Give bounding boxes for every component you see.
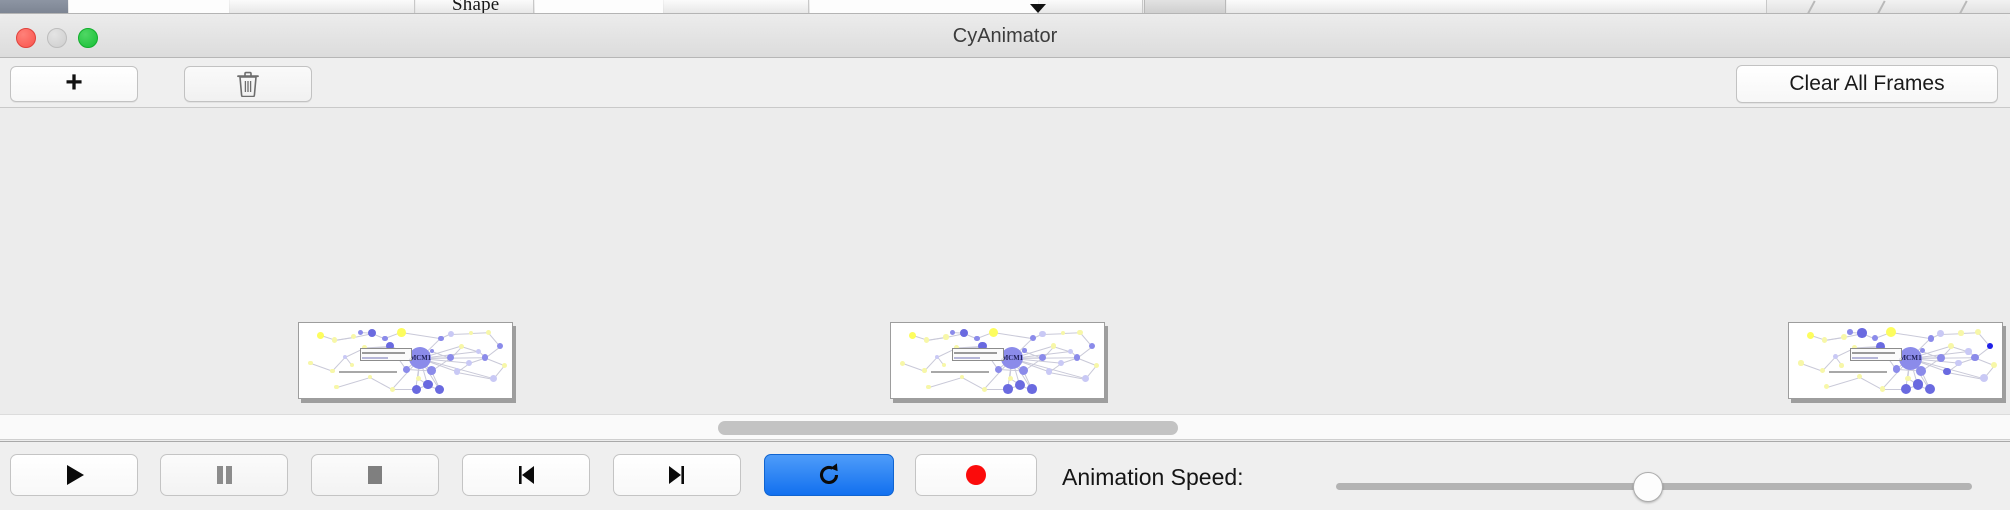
background-tab xyxy=(1144,0,1226,13)
network-node xyxy=(358,330,363,335)
network-node xyxy=(332,337,337,342)
frame-tooltip-callout xyxy=(1850,348,1902,361)
window-title: CyAnimator xyxy=(0,25,2010,48)
record-button[interactable] xyxy=(915,454,1037,496)
frame-tooltip-text-line xyxy=(362,357,388,359)
background-panel-h xyxy=(1227,0,1767,14)
network-node xyxy=(922,368,927,373)
network-node xyxy=(1937,330,1944,337)
network-node xyxy=(1003,384,1013,394)
frame-tooltip-text-line xyxy=(954,352,997,354)
network-node xyxy=(382,336,387,341)
background-window-strip: Shape xyxy=(0,0,2010,14)
network-node xyxy=(390,387,395,392)
network-node xyxy=(448,331,454,337)
frame-tooltip-text-line xyxy=(1852,357,1878,359)
timeline-frame-thumbnail[interactable]: MCM1 xyxy=(298,322,513,399)
network-node xyxy=(1039,331,1045,337)
timeline-scrollbar[interactable] xyxy=(0,414,2010,440)
pause-button[interactable] xyxy=(160,454,288,496)
frame-network-preview: MCM1 xyxy=(299,323,512,398)
network-node xyxy=(1958,330,1963,335)
play-icon xyxy=(61,462,87,488)
network-node xyxy=(995,366,1002,373)
network-node xyxy=(1046,368,1053,375)
network-node xyxy=(1051,343,1056,348)
background-panel-a xyxy=(69,0,229,13)
record-icon xyxy=(963,462,989,488)
loop-button[interactable] xyxy=(764,454,894,496)
network-node xyxy=(454,368,460,374)
network-node xyxy=(412,385,421,394)
network-node xyxy=(1948,343,1954,349)
network-node xyxy=(1987,343,1994,350)
network-node xyxy=(490,375,497,382)
network-node xyxy=(1971,354,1978,361)
frame-annotation-line xyxy=(931,371,989,373)
network-node xyxy=(1094,363,1099,368)
network-node xyxy=(982,387,987,392)
network-node xyxy=(1913,379,1924,390)
network-edge xyxy=(401,332,441,339)
network-node xyxy=(1925,384,1935,394)
background-cursor-arrow-icon xyxy=(1030,4,1046,13)
frame-tooltip-callout xyxy=(360,348,412,361)
network-node xyxy=(943,334,948,339)
network-node xyxy=(466,360,472,366)
network-node xyxy=(1022,348,1027,353)
network-node xyxy=(1886,327,1896,337)
network-node xyxy=(1980,374,1988,382)
frame-tooltip-text-line xyxy=(954,357,980,359)
network-node xyxy=(330,369,334,373)
network-node xyxy=(1893,365,1901,373)
background-window-titlebar xyxy=(0,0,68,13)
network-node xyxy=(1089,343,1095,349)
background-panel-b xyxy=(230,0,415,14)
skip-forward-button[interactable] xyxy=(613,454,741,496)
network-node xyxy=(1820,368,1825,373)
network-node xyxy=(926,385,931,390)
network-node xyxy=(435,385,444,394)
network-edge xyxy=(1899,358,1902,360)
network-node xyxy=(1841,334,1847,340)
network-node xyxy=(1798,360,1803,365)
network-node xyxy=(351,334,356,339)
animation-speed-label: Animation Speed: xyxy=(1062,464,1244,491)
stop-button[interactable] xyxy=(311,454,439,496)
frame-tooltip-text-line xyxy=(362,352,405,354)
network-node xyxy=(438,336,444,342)
network-node xyxy=(459,344,464,349)
network-edge xyxy=(1826,377,1860,388)
frame-annotation-line xyxy=(1829,371,1887,373)
plus-icon: + xyxy=(65,68,83,98)
title-bar: CyAnimator xyxy=(0,14,2010,58)
trash-icon xyxy=(237,71,259,97)
network-node xyxy=(909,332,916,339)
stop-icon xyxy=(362,462,388,488)
network-node xyxy=(942,363,946,367)
loop-icon xyxy=(814,460,844,490)
delete-frame-button[interactable] xyxy=(184,66,312,102)
network-edge xyxy=(993,332,1033,339)
background-shape-label: Shape xyxy=(452,0,499,14)
network-node xyxy=(350,363,354,367)
network-node xyxy=(317,332,324,339)
frame-tooltip-callout xyxy=(952,348,1004,361)
background-panel-g xyxy=(1039,0,1143,14)
network-node xyxy=(416,376,421,381)
network-node xyxy=(403,366,410,373)
network-node xyxy=(447,354,454,361)
network-node xyxy=(1082,375,1089,382)
network-edge xyxy=(1891,332,1931,339)
network-node xyxy=(1839,363,1843,367)
skip-back-icon xyxy=(513,462,539,488)
network-node xyxy=(368,329,376,337)
skip-forward-icon xyxy=(664,462,690,488)
play-button[interactable] xyxy=(10,454,138,496)
network-node xyxy=(1901,384,1911,394)
network-node xyxy=(502,363,507,368)
network-node xyxy=(924,337,929,342)
timeline-frame-thumbnail[interactable]: MCM1 xyxy=(890,322,1105,399)
network-node xyxy=(486,330,491,335)
add-frame-button[interactable]: + xyxy=(10,66,138,102)
network-node xyxy=(1061,331,1066,336)
background-panel-e xyxy=(664,0,809,14)
frame-toolbar: + Clear All Frames xyxy=(0,58,2010,108)
network-edge xyxy=(928,377,962,388)
network-node xyxy=(1019,366,1028,375)
network-node xyxy=(1008,376,1013,381)
background-panel-d xyxy=(535,0,663,13)
timeline-panel[interactable]: MCM1MCM1MCM1 12131415161718 Seconds xyxy=(0,109,2010,414)
network-node xyxy=(397,328,406,337)
network-node xyxy=(423,380,433,390)
background-divider-1 xyxy=(1806,0,1815,14)
network-node xyxy=(974,336,979,341)
network-node xyxy=(1991,362,1997,368)
network-node xyxy=(950,330,955,335)
network-node xyxy=(1965,348,1971,354)
network-node xyxy=(960,329,969,338)
network-node xyxy=(1822,337,1828,343)
network-node xyxy=(334,385,339,390)
network-edge xyxy=(1001,358,1004,360)
network-node xyxy=(1030,335,1036,341)
network-node xyxy=(497,343,503,349)
animation-speed-slider-thumb[interactable] xyxy=(1633,472,1663,502)
network-edge xyxy=(409,358,412,360)
network-hub-node: MCM1 xyxy=(1899,347,1922,370)
frame-network-preview: MCM1 xyxy=(891,323,1104,398)
network-node xyxy=(1015,380,1025,390)
timeline-frame-thumbnail[interactable]: MCM1 xyxy=(1788,322,2003,399)
network-node xyxy=(469,331,474,336)
network-node xyxy=(1077,330,1082,335)
network-node xyxy=(482,354,488,360)
network-node xyxy=(1807,332,1815,340)
network-edge xyxy=(451,333,471,335)
network-node xyxy=(1058,360,1064,366)
network-node xyxy=(1943,368,1950,375)
network-node xyxy=(900,361,905,366)
network-node xyxy=(427,366,436,375)
network-edge xyxy=(336,377,370,388)
playback-control-bar: Animation Speed: xyxy=(0,441,2010,510)
frame-tooltip-text-line xyxy=(1852,352,1895,354)
network-node xyxy=(1928,335,1934,341)
background-divider-3 xyxy=(1958,0,1967,14)
network-node xyxy=(1027,384,1037,394)
network-node xyxy=(1955,360,1962,367)
network-node xyxy=(1880,386,1886,392)
network-node xyxy=(1872,335,1878,341)
skip-back-button[interactable] xyxy=(462,454,590,496)
timeline-scrollbar-thumb[interactable] xyxy=(718,421,1178,435)
network-node xyxy=(1824,384,1829,389)
network-node xyxy=(1937,354,1945,362)
frame-network-preview: MCM1 xyxy=(1789,323,2002,398)
frame-annotation-line xyxy=(339,371,397,373)
network-node xyxy=(989,328,998,337)
background-divider-2 xyxy=(1876,0,1885,14)
background-panel-f xyxy=(810,0,1038,13)
cyanimator-window: Shape CyAnimator + Clear All Frames xyxy=(0,0,2010,510)
clear-all-frames-button[interactable]: Clear All Frames xyxy=(1736,65,1998,103)
network-node xyxy=(1857,328,1866,337)
pause-icon xyxy=(211,462,237,488)
network-node xyxy=(1074,354,1081,361)
